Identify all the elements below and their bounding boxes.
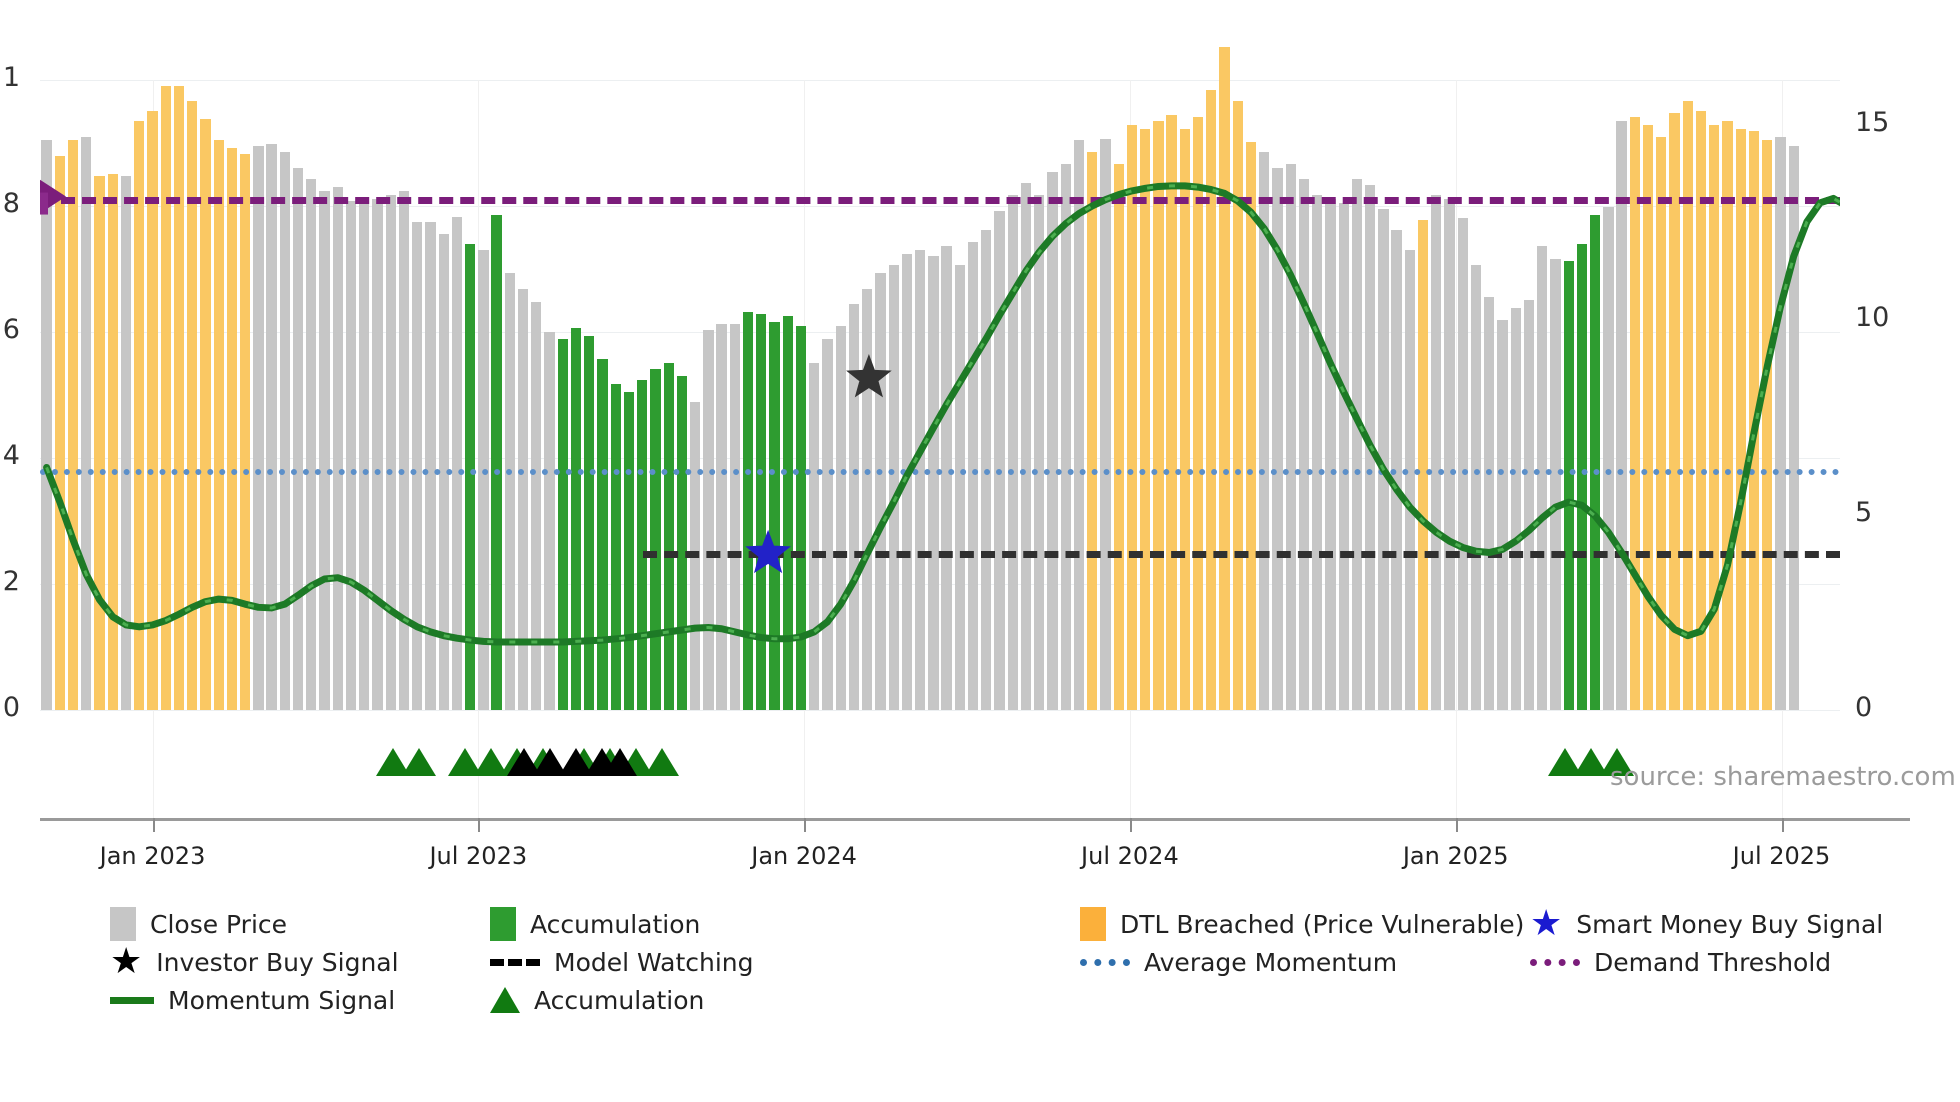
y-axis-left-tick-label: 0 [0,692,20,723]
model-watching-dash-icon [490,959,540,966]
x-axis-tick-label: Jul 2025 [1682,842,1882,870]
legend: Close PriceAccumulationDTL Breached (Pri… [0,905,1960,1019]
y-axis-left-tick-label: 0.2 [0,566,20,597]
y-axis-right-tick-label: 15 [1855,107,1925,138]
legend-row-3: Momentum SignalAccumulation [0,981,1960,1019]
demand-threshold-label: Demand Threshold [1594,948,1831,977]
legend-item-average-momentum[interactable]: Average Momentum [1080,943,1397,981]
y-axis-left-tick-label: 1 [0,62,20,93]
dtl-breached-swatch-icon [1080,907,1106,941]
accumulation-bar-label: Accumulation [530,910,700,939]
legend-item-investor-buy-signal[interactable]: ★Investor Buy Signal [110,943,399,981]
demand-threshold-arrow-tail-icon [40,193,48,215]
source-credit: source: sharemaestro.com [1610,762,1956,792]
x-axis-tick-label: Jan 2024 [704,842,904,870]
x-axis-tick [1782,818,1784,832]
dtl-breached-label: DTL Breached (Price Vulnerable) [1120,910,1524,939]
y-axis-left-tick-label: 0.6 [0,314,20,345]
x-axis-tick [804,818,806,832]
x-axis-tick-label: Jul 2024 [1030,842,1230,870]
y-axis-left-tick-label: 0.4 [0,440,20,471]
x-axis-tick [1130,818,1132,832]
x-axis-tick [153,818,155,832]
plot-area [40,80,1840,710]
accumulation-bar-swatch-icon [490,907,516,941]
legend-item-accumulation-bar[interactable]: Accumulation [490,905,700,943]
momentum-signal-line-icon [110,997,154,1004]
x-axis-tick-label: Jan 2025 [1356,842,1556,870]
investor-buy-signal-star-icon: ★ [110,947,142,977]
x-axis-tick [1456,818,1458,832]
model-watching-triangle-icon [603,748,637,776]
momentum-signal-label: Momentum Signal [168,986,395,1015]
y-axis-right-tick-label: 5 [1855,497,1925,528]
accumulation-marker-row [40,748,1840,782]
x-axis-tick-label: Jan 2023 [53,842,253,870]
legend-row-2: ★Investor Buy SignalModel WatchingAverag… [0,943,1960,981]
signal-markers [40,80,1840,710]
demand-threshold-dot-icon [1530,959,1580,966]
accumulation-triangle-icon [645,748,679,776]
y-axis-left-tick-label: 0.8 [0,188,20,219]
smart-money-buy-signal-label: Smart Money Buy Signal [1576,910,1883,939]
x-axis-tick-label: Jul 2023 [378,842,578,870]
accumulation-triangle-icon [402,748,436,776]
legend-item-demand-threshold[interactable]: Demand Threshold [1530,943,1831,981]
smart-money-buy-signal-icon [745,530,791,573]
accumulation-triangle-label: Accumulation [534,986,704,1015]
legend-item-dtl-breached[interactable]: DTL Breached (Price Vulnerable) [1080,905,1524,943]
accumulation-triangle-triangle-icon [490,987,520,1013]
legend-item-close-price[interactable]: Close Price [110,905,287,943]
close-price-label: Close Price [150,910,287,939]
investor-buy-signal-label: Investor Buy Signal [156,948,398,977]
legend-item-model-watching[interactable]: Model Watching [490,943,754,981]
model-watching-label: Model Watching [554,948,754,977]
legend-row-1: Close PriceAccumulationDTL Breached (Pri… [0,905,1960,943]
chart-root: 10.80.60.40.20 151050 Jan 2023Jul 2023Ja… [0,0,1960,1102]
x-axis-line [40,818,1910,821]
legend-item-smart-money-buy-signal[interactable]: ★Smart Money Buy Signal [1530,905,1883,943]
smart-money-buy-signal-star-icon: ★ [1530,909,1562,939]
y-axis-right-tick-label: 10 [1855,302,1925,333]
close-price-swatch-icon [110,907,136,941]
average-momentum-dot-icon [1080,959,1130,966]
y-axis-right-tick-label: 0 [1855,692,1925,723]
average-momentum-label: Average Momentum [1144,948,1397,977]
investor-buy-signal-icon [846,354,892,397]
x-axis-tick [478,818,480,832]
gridline-horizontal [40,710,1840,711]
legend-item-accumulation-triangle[interactable]: Accumulation [490,981,704,1019]
legend-item-momentum-signal[interactable]: Momentum Signal [110,981,395,1019]
